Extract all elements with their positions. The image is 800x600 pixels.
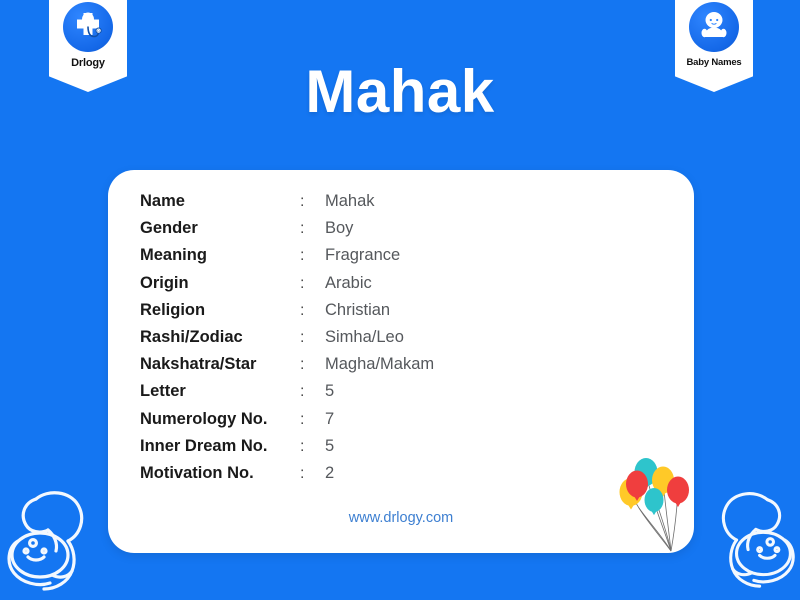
row-separator: : (300, 411, 325, 429)
row-value: Boy (325, 219, 353, 238)
name-card-poster: D Drlogy Baby Names Mahak Name : (0, 0, 800, 600)
table-row: Religion : Christian (140, 301, 434, 328)
page-title: Mahak (0, 62, 800, 122)
table-row: Origin : Arabic (140, 274, 434, 301)
row-label: Motivation No. (140, 464, 300, 483)
row-separator: : (300, 438, 325, 456)
row-value: Arabic (325, 274, 372, 293)
row-label: Origin (140, 274, 300, 293)
row-separator: : (300, 356, 325, 374)
row-value: 5 (325, 382, 334, 401)
table-row: Nakshatra/Star : Magha/Makam (140, 355, 434, 382)
mother-holding-baby-icon (2, 483, 106, 599)
row-separator: : (300, 247, 325, 265)
table-row: Inner Dream No. : 5 (140, 437, 434, 464)
table-row: Rashi/Zodiac : Simha/Leo (140, 328, 434, 355)
details-table: Name : Mahak Gender : Boy Meaning : Frag… (140, 192, 434, 491)
row-label: Nakshatra/Star (140, 355, 300, 374)
table-row: Gender : Boy (140, 219, 434, 246)
table-row: Numerology No. : 7 (140, 410, 434, 437)
baby-icon (689, 2, 739, 52)
row-label: Gender (140, 219, 300, 238)
table-row: Meaning : Fragrance (140, 246, 434, 273)
row-value: 5 (325, 437, 334, 456)
row-label: Name (140, 192, 300, 211)
doctor-stethoscope-cross-icon: D (63, 2, 113, 52)
row-label: Rashi/Zodiac (140, 328, 300, 347)
mother-holding-baby-icon (700, 480, 800, 600)
row-separator: : (300, 465, 325, 483)
table-row: Letter : 5 (140, 382, 434, 409)
row-separator: : (300, 220, 325, 238)
website-link[interactable]: www.drlogy.com (108, 510, 694, 526)
row-value: Mahak (325, 192, 375, 211)
row-label: Numerology No. (140, 410, 300, 429)
row-separator: : (300, 329, 325, 347)
row-value: Simha/Leo (325, 328, 404, 347)
row-separator: : (300, 275, 325, 293)
table-row: Motivation No. : 2 (140, 464, 434, 491)
row-value: Magha/Makam (325, 355, 434, 374)
table-row: Name : Mahak (140, 192, 434, 219)
row-value: 2 (325, 464, 334, 483)
row-separator: : (300, 383, 325, 401)
row-label: Religion (140, 301, 300, 320)
row-value: 7 (325, 410, 334, 429)
row-separator: : (300, 302, 325, 320)
row-label: Inner Dream No. (140, 437, 300, 456)
row-separator: : (300, 193, 325, 211)
row-label: Letter (140, 382, 300, 401)
row-value: Christian (325, 301, 390, 320)
row-label: Meaning (140, 246, 300, 265)
name-details-card: Name : Mahak Gender : Boy Meaning : Frag… (108, 170, 694, 553)
row-value: Fragrance (325, 246, 400, 265)
